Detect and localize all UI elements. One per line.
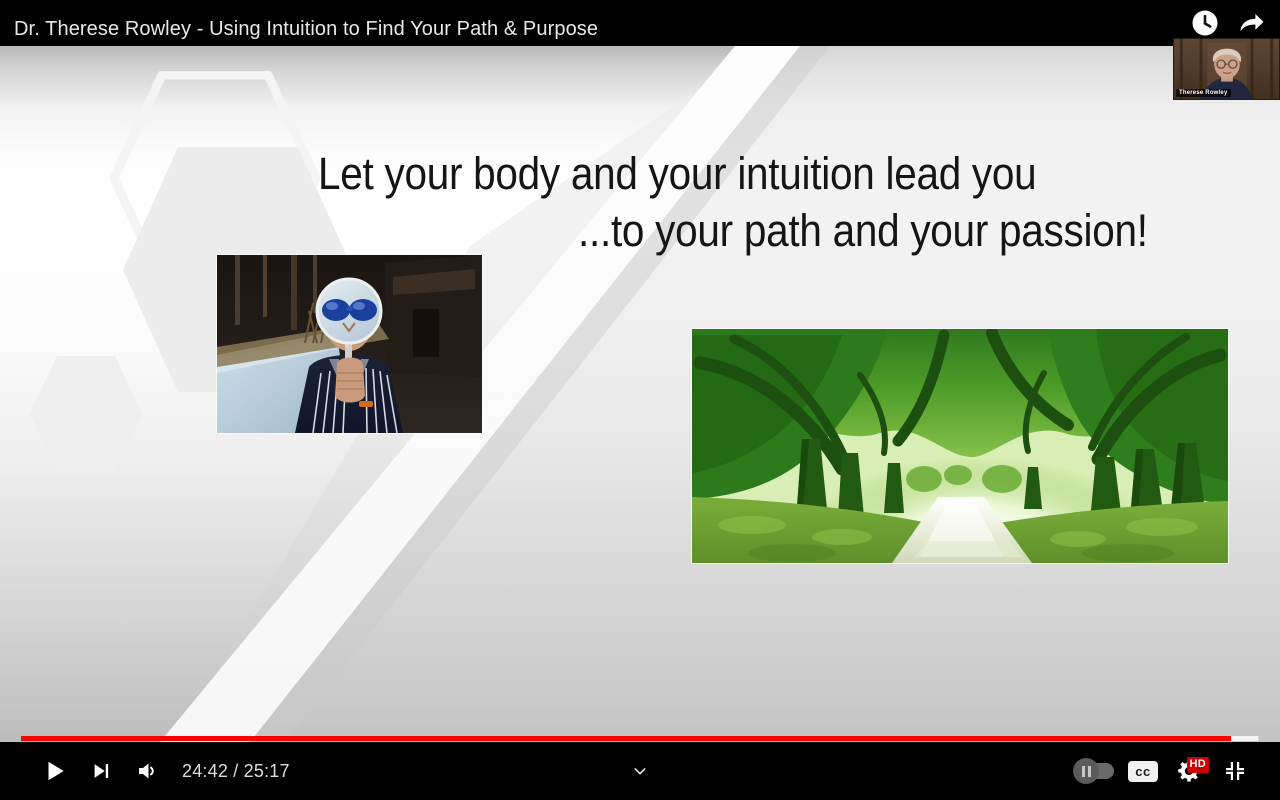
volume-icon xyxy=(135,759,159,783)
next-video-button[interactable] xyxy=(78,748,124,794)
controls-right-group: cc HD xyxy=(1070,742,1258,800)
progress-played xyxy=(21,736,1231,741)
play-button[interactable] xyxy=(32,748,78,794)
exit-fullscreen-button[interactable] xyxy=(1212,748,1258,794)
hexagon-filled-small xyxy=(27,353,145,475)
share-button[interactable] xyxy=(1236,8,1266,38)
exit-fullscreen-icon xyxy=(1223,759,1247,783)
pause-bar-right xyxy=(1088,766,1091,777)
progress-track[interactable] xyxy=(21,736,1259,741)
magnifier-photo xyxy=(217,255,482,433)
player-top-bar: Dr. Therese Rowley - Using Intuition to … xyxy=(0,0,1280,46)
next-track-icon xyxy=(90,760,112,782)
cc-label: cc xyxy=(1128,761,1158,782)
captions-button[interactable]: cc xyxy=(1120,748,1166,794)
volume-button[interactable] xyxy=(124,748,170,794)
youtube-player[interactable]: Let your body and your intuition lead yo… xyxy=(0,0,1280,800)
autoplay-toggle-track xyxy=(1076,763,1114,779)
progress-bar[interactable] xyxy=(0,730,1280,742)
time-display: 24:42 / 25:17 xyxy=(182,761,290,782)
quality-badge: HD xyxy=(1187,757,1210,773)
speaker-video-thumbnail[interactable]: Therese Rowley xyxy=(1173,38,1280,100)
autoplay-toggle-knob xyxy=(1073,758,1099,784)
slide-line-1: Let your body and your intuition lead yo… xyxy=(318,147,1036,200)
speaker-name-label: Therese Rowley xyxy=(1176,89,1231,97)
watch-later-icon xyxy=(1190,8,1220,38)
settings-button[interactable]: HD xyxy=(1166,748,1212,794)
video-slide[interactable]: Let your body and your intuition lead yo… xyxy=(0,46,1280,742)
controls-left-group: 24:42 / 25:17 xyxy=(32,742,290,800)
chevron-down-icon xyxy=(632,763,648,779)
player-controls: 24:42 / 25:17 cc HD xyxy=(0,742,1280,800)
captions-panel-expander[interactable] xyxy=(620,742,660,800)
autoplay-toggle[interactable] xyxy=(1070,748,1120,794)
play-icon xyxy=(42,758,68,784)
pathway-photo xyxy=(692,329,1228,563)
watch-later-button[interactable] xyxy=(1190,8,1220,38)
slide-line-2: ...to your path and your passion! xyxy=(578,204,1148,257)
share-icon xyxy=(1236,8,1266,38)
top-right-actions xyxy=(1190,8,1266,38)
video-title[interactable]: Dr. Therese Rowley - Using Intuition to … xyxy=(14,18,598,41)
pause-bar-left xyxy=(1082,766,1085,777)
